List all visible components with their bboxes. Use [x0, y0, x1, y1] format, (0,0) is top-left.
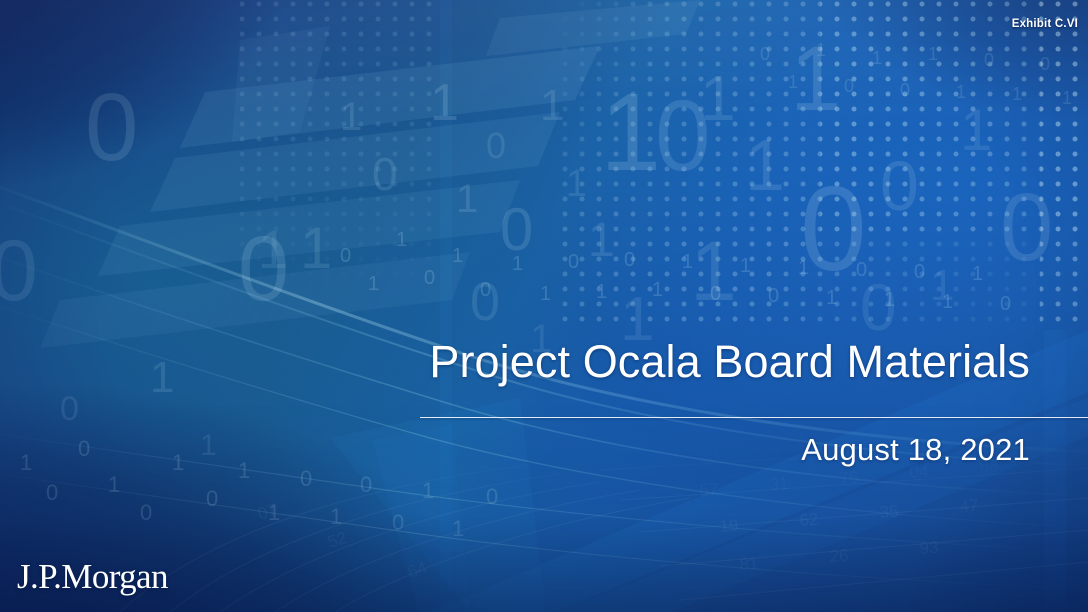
- svg-text:0: 0: [856, 259, 867, 281]
- svg-text:0: 0: [60, 390, 79, 428]
- background-haze: [0, 0, 1088, 612]
- background-base-gradient: [0, 0, 1088, 612]
- svg-text:1: 1: [600, 71, 661, 194]
- svg-text:1: 1: [422, 478, 434, 503]
- svg-text:0: 0: [85, 74, 138, 181]
- svg-text:0: 0: [206, 486, 218, 511]
- title-block: Project Ocala Board Materials: [58, 338, 1030, 386]
- exhibit-label: Exhibit C.VI: [1012, 18, 1078, 30]
- svg-text:1: 1: [942, 291, 953, 313]
- svg-text:1: 1: [972, 263, 983, 285]
- svg-text:1: 1: [566, 163, 587, 205]
- svg-text:1: 1: [884, 289, 895, 311]
- svg-text:1: 1: [596, 281, 607, 303]
- svg-text:1: 1: [798, 257, 809, 279]
- svg-text:31: 31: [769, 474, 789, 494]
- svg-text:1: 1: [258, 220, 288, 280]
- svg-text:1: 1: [872, 48, 882, 68]
- svg-text:1: 1: [700, 62, 736, 134]
- background-perspective-grid: 23 68 45 12 90 57 31 76 04 88 19 62 35 4…: [0, 0, 1088, 612]
- svg-text:0: 0: [372, 148, 398, 200]
- svg-text:1: 1: [330, 504, 342, 529]
- svg-text:0: 0: [760, 44, 770, 64]
- svg-text:1: 1: [540, 81, 564, 130]
- svg-text:0: 0: [340, 245, 351, 267]
- svg-text:0: 0: [1040, 54, 1050, 74]
- svg-text:1: 1: [960, 98, 992, 163]
- svg-text:1: 1: [816, 40, 826, 60]
- svg-text:0: 0: [360, 472, 372, 497]
- svg-text:1: 1: [340, 95, 362, 139]
- svg-text:0: 0: [1000, 174, 1053, 281]
- svg-text:0: 0: [860, 270, 897, 344]
- svg-text:1: 1: [452, 245, 463, 267]
- svg-text:1: 1: [512, 253, 523, 275]
- svg-text:0: 0: [500, 196, 533, 263]
- svg-text:1: 1: [788, 72, 798, 92]
- svg-text:0: 0: [0, 223, 38, 319]
- svg-text:1: 1: [396, 229, 407, 251]
- background-vignette: [0, 0, 1088, 612]
- svg-text:1: 1: [452, 516, 464, 541]
- svg-text:1: 1: [540, 283, 551, 305]
- svg-text:0: 0: [486, 484, 498, 509]
- title-divider-rule: [420, 417, 1088, 418]
- svg-text:1: 1: [588, 214, 615, 267]
- background-light-streaks: [0, 0, 1088, 612]
- svg-text:76: 76: [839, 468, 859, 488]
- background-overlay-shards: [0, 0, 1088, 612]
- svg-text:1: 1: [108, 472, 120, 497]
- svg-text:1: 1: [956, 82, 966, 102]
- background-diagonal-shards: [0, 0, 1088, 612]
- svg-text:0: 0: [844, 76, 854, 96]
- svg-text:52: 52: [325, 528, 349, 552]
- svg-text:81: 81: [739, 554, 759, 574]
- svg-text:1: 1: [745, 126, 785, 206]
- svg-text:1: 1: [368, 273, 379, 295]
- svg-text:1: 1: [268, 500, 280, 525]
- svg-text:0: 0: [486, 125, 506, 166]
- svg-text:93: 93: [919, 538, 939, 558]
- svg-text:0: 0: [140, 500, 152, 525]
- svg-text:0: 0: [768, 285, 779, 307]
- presentation-date: August 18, 2021: [58, 432, 1030, 468]
- svg-text:57: 57: [699, 480, 719, 500]
- svg-text:0: 0: [424, 267, 435, 289]
- date-block: August 18, 2021: [58, 432, 1030, 468]
- svg-text:0: 0: [880, 147, 919, 225]
- svg-text:64: 64: [405, 558, 429, 582]
- svg-text:1: 1: [740, 255, 751, 277]
- svg-text:0: 0: [1000, 293, 1011, 315]
- svg-text:1: 1: [930, 261, 954, 310]
- background-corner-shading: [0, 0, 1088, 612]
- svg-text:0: 0: [984, 50, 994, 70]
- svg-text:1: 1: [690, 224, 737, 318]
- svg-text:0: 0: [470, 272, 500, 332]
- jpmorgan-logo: J.P.Morgan: [17, 557, 168, 597]
- page-title: Project Ocala Board Materials: [58, 338, 1030, 386]
- svg-text:0: 0: [392, 510, 404, 535]
- svg-text:26: 26: [829, 546, 849, 566]
- background-binary-glyphs: 0 0 0 1 1 0 1 1 1 0 1 1 0 0 1 1 1 0 1 1 …: [0, 0, 1088, 612]
- svg-text:1: 1: [1012, 84, 1022, 104]
- svg-text:0: 0: [238, 218, 289, 320]
- svg-text:0: 0: [710, 283, 721, 305]
- background-dot-matrix: [0, 0, 1088, 612]
- svg-text:1: 1: [652, 279, 663, 301]
- svg-text:0: 0: [480, 279, 491, 301]
- svg-text:1: 1: [20, 450, 32, 475]
- presentation-title-slide: 0 0 0 1 1 0 1 1 1 0 1 1 0 0 1 1 1 0 1 1 …: [0, 0, 1088, 612]
- svg-text:19: 19: [719, 516, 739, 536]
- svg-text:0: 0: [300, 466, 312, 491]
- svg-text:1: 1: [300, 216, 332, 281]
- svg-text:0: 0: [568, 251, 579, 273]
- svg-text:0: 0: [46, 480, 58, 505]
- svg-text:1: 1: [928, 44, 938, 64]
- svg-text:47: 47: [959, 496, 979, 516]
- svg-text:1: 1: [456, 177, 478, 221]
- svg-text:1: 1: [430, 74, 459, 132]
- svg-text:62: 62: [799, 510, 819, 530]
- svg-text:1: 1: [826, 287, 837, 309]
- svg-text:0: 0: [914, 261, 925, 283]
- svg-text:1: 1: [790, 28, 841, 130]
- svg-text:0: 0: [624, 249, 635, 271]
- svg-text:1: 1: [682, 251, 693, 273]
- svg-text:0: 0: [900, 80, 910, 100]
- svg-text:0: 0: [800, 162, 867, 296]
- svg-text:35: 35: [879, 502, 899, 522]
- svg-text:0: 0: [655, 80, 711, 192]
- svg-text:1: 1: [1062, 88, 1072, 108]
- svg-text:07: 07: [255, 500, 279, 524]
